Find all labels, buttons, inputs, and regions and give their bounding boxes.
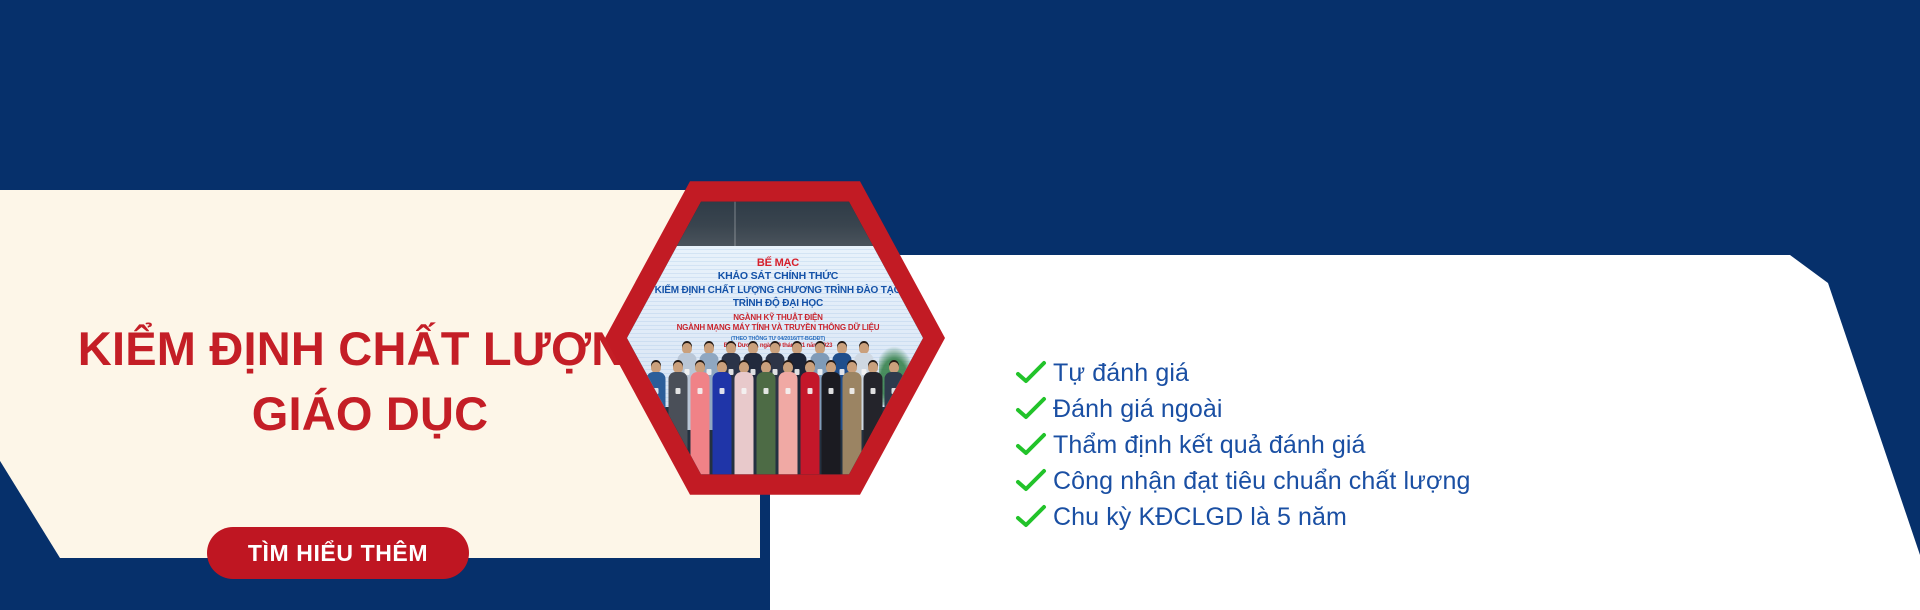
banner-line-2: KHẢO SÁT CHÍNH THỨC (645, 270, 911, 284)
banner-line-4: TRÌNH ĐỘ ĐẠI HỌC (645, 297, 911, 310)
check-icon (1015, 504, 1047, 530)
list-item: Chu kỳ KĐCLGD là 5 năm (1015, 499, 1775, 535)
list-item: Thẩm định kết quả đánh giá (1015, 427, 1775, 463)
learn-more-button[interactable]: TÌM HIỂU THÊM (207, 527, 469, 579)
person (777, 362, 798, 477)
list-item-label: Chu kỳ KĐCLGD là 5 năm (1053, 503, 1347, 532)
banner-line-3: KIỂM ĐỊNH CHẤT LƯỢNG CHƯƠNG TRÌNH ĐÀO TẠ… (645, 284, 911, 297)
check-icon (1015, 396, 1047, 422)
list-item-label: Công nhận đạt tiêu chuẩn chất lượng (1053, 467, 1470, 496)
kdclgd-hero-banner: KIỂM ĐỊNH CHẤT LƯỢNG GIÁO DỤC TÌM HIỂU T… (0, 0, 1920, 610)
person (755, 362, 776, 477)
headline-line-1: KIỂM ĐỊNH CHẤT LƯỢNG (78, 322, 662, 375)
check-icon (1015, 468, 1047, 494)
list-item: Tự đánh giá (1015, 355, 1775, 391)
list-item: Đánh giá ngoài (1015, 391, 1775, 427)
person (799, 362, 820, 477)
hexagon-photo: BẾ MẠC KHẢO SÁT CHÍNH THỨC KIỂM ĐỊNH CHẤ… (605, 178, 945, 498)
list-item-label: Tự đánh giá (1053, 359, 1189, 388)
person (711, 362, 732, 477)
list-item-label: Đánh giá ngoài (1053, 395, 1223, 424)
list-item-label: Thẩm định kết quả đánh giá (1053, 431, 1366, 460)
person (733, 362, 754, 477)
banner-line-1: BẾ MẠC (645, 256, 911, 271)
benefits-checklist: Tự đánh giá Đánh giá ngoài Thẩm định kết… (1015, 355, 1775, 535)
person (821, 362, 841, 477)
list-item: Công nhận đạt tiêu chuẩn chất lượng (1015, 463, 1775, 499)
check-icon (1015, 432, 1047, 458)
check-icon (1015, 360, 1047, 386)
